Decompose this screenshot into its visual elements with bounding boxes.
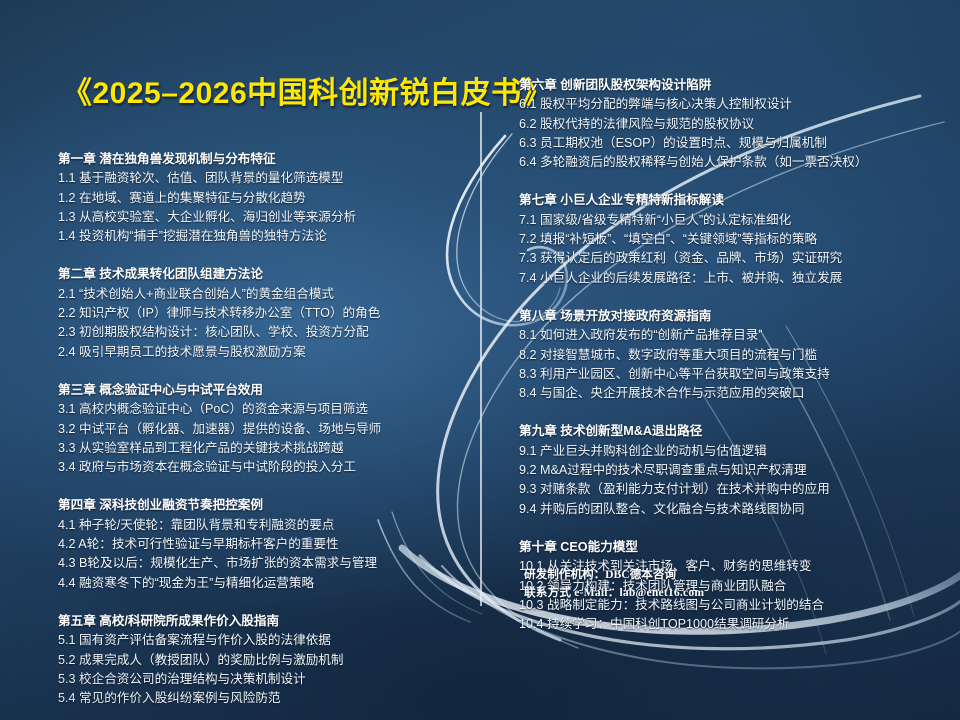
page-title: 《2025–2026中国科创新锐白皮书》 [62,68,552,112]
chapter-item: 7.1 国家级/省级专精特新“小巨人”的认定标准细化 [519,211,867,230]
chapter-item: 3.2 中试平台（孵化器、加速器）提供的设备、场地与导师 [58,420,381,439]
chapter-item: 9.4 并购后的团队整合、文化融合与技术路线图协同 [519,500,867,519]
chapter-item: 7.2 填报“补短板”、“填空白”、“关键领域”等指标的策略 [519,230,867,249]
chapter-item: 7.3 获得认定后的政策红利（资金、品牌、市场）实证研究 [519,249,867,268]
chapter-title: 第五章 高校/科研院所成果作价入股指南 [58,612,381,631]
chapter-block: 第五章 高校/科研院所成果作价入股指南 5.1 国有资产评估备案流程与作价入股的… [58,612,381,708]
chapter-block: 第八章 场景开放对接政府资源指南 8.1 如何进入政府发布的“创新产品推荐目录”… [519,307,867,403]
chapter-block: 第四章 深科技创业融资节奏把控案例 4.1 种子轮/天使轮：靠团队背景和专利融资… [58,496,381,592]
chapter-item: 9.3 对赌条款（盈利能力支付计划）在技术并购中的应用 [519,480,867,499]
chapter-item: 8.1 如何进入政府发布的“创新产品推荐目录” [519,326,867,345]
chapter-item: 8.3 利用产业园区、创新中心等平台获取空间与政策支持 [519,365,867,384]
chapter-item: 5.3 校企合资公司的治理结构与决策机制设计 [58,670,381,689]
chapter-title: 第六章 创新团队股权架构设计陷阱 [519,76,867,95]
chapter-block: 第二章 技术成果转化团队组建方法论 2.1 “技术创始人+商业联合创始人”的黄金… [58,265,381,361]
chapter-item: 7.4 小巨人企业的后续发展路径：上市、被并购、独立发展 [519,269,867,288]
chapter-item: 3.4 政府与市场资本在概念验证与中试阶段的投入分工 [58,458,381,477]
chapter-item: 4.2 A轮：技术可行性验证与早期标杆客户的重要性 [58,535,381,554]
chapter-item: 6.1 股权平均分配的弊端与核心决策人控制权设计 [519,95,867,114]
chapter-block: 第七章 小巨人企业专精特新指标解读 7.1 国家级/省级专精特新“小巨人”的认定… [519,191,867,287]
chapter-item: 1.3 从高校实验室、大企业孵化、海归创业等来源分析 [58,208,381,227]
chapter-item: 1.2 在地域、赛道上的集聚特征与分散化趋势 [58,189,381,208]
chapter-item: 4.3 B轮及以后：规模化生产、市场扩张的资本需求与管理 [58,554,381,573]
chapter-item: 4.1 种子轮/天使轮：靠团队背景和专利融资的要点 [58,516,381,535]
chapter-item: 5.4 常见的作价入股纠纷案例与风险防范 [58,689,381,708]
chapter-block: 第一章 潜在独角兽发现机制与分布特征 1.1 基于融资轮次、估值、团队背景的量化… [58,150,381,246]
chapter-item: 8.2 对接智慧城市、数字政府等重大项目的流程与门槛 [519,346,867,365]
chapter-item: 9.2 M&A过程中的技术尽职调查重点与知识产权清理 [519,461,867,480]
chapter-block: 第六章 创新团队股权架构设计陷阱 6.1 股权平均分配的弊端与核心决策人控制权设… [519,76,867,172]
chapter-title: 第二章 技术成果转化团队组建方法论 [58,265,381,284]
chapter-item: 2.4 吸引早期员工的技术愿景与股权激励方案 [58,343,381,362]
chapter-item: 1.1 基于融资轮次、估值、团队背景的量化筛选模型 [58,169,381,188]
slide-canvas: 《2025–2026中国科创新锐白皮书》 第一章 潜在独角兽发现机制与分布特征 … [0,0,960,720]
footer-contact-email: 联系方式 e-Mail：lab@enet16.com [524,584,704,602]
chapter-title: 第三章 概念验证中心与中试平台效用 [58,381,381,400]
chapter-title: 第一章 潜在独角兽发现机制与分布特征 [58,150,381,169]
chapter-item: 4.4 融资寒冬下的“现金为王”与精细化运营策略 [58,574,381,593]
chapter-block: 第三章 概念验证中心与中试平台效用 3.1 高校内概念验证中心（PoC）的资金来… [58,381,381,477]
chapter-item: 3.1 高校内概念验证中心（PoC）的资金来源与项目筛选 [58,400,381,419]
chapter-item: 6.4 多轮融资后的股权稀释与创始人保护条款（如一票否决权） [519,153,867,172]
chapter-title: 第十章 CEO能力模型 [519,538,867,557]
chapter-title: 第八章 场景开放对接政府资源指南 [519,307,867,326]
chapter-item: 1.4 投资机构“捕手”挖掘潜在独角兽的独特方法论 [58,227,381,246]
toc-left-column: 第一章 潜在独角兽发现机制与分布特征 1.1 基于融资轮次、估值、团队背景的量化… [58,150,381,720]
footer: 研发制作机构：DBC德本咨询 联系方式 e-Mail：lab@enet16.co… [524,566,704,602]
chapter-title: 第九章 技术创新型M&A退出路径 [519,422,867,441]
chapter-title: 第四章 深科技创业融资节奏把控案例 [58,496,381,515]
chapter-item: 3.3 从实验室样品到工程化产品的关键技术挑战跨越 [58,439,381,458]
chapter-item: 2.2 知识产权（IP）律师与技术转移办公室（TTO）的角色 [58,304,381,323]
chapter-item: 2.1 “技术创始人+商业联合创始人”的黄金组合模式 [58,285,381,304]
chapter-item: 10.4 持续学习：中国科创TOP1000结果调研分析 [519,615,867,634]
footer-organization: 研发制作机构：DBC德本咨询 [524,566,704,584]
chapter-item: 6.3 员工期权池（ESOP）的设置时点、规模与归属机制 [519,134,867,153]
chapter-item: 8.4 与国企、央企开展技术合作与示范应用的突破口 [519,384,867,403]
chapter-item: 6.2 股权代持的法律风险与规范的股权协议 [519,115,867,134]
chapter-block: 第九章 技术创新型M&A退出路径 9.1 产业巨头并购科创企业的动机与估值逻辑 … [519,422,867,518]
chapter-item: 5.2 成果完成人（教授团队）的奖励比例与激励机制 [58,651,381,670]
chapter-item: 2.3 初创期股权结构设计：核心团队、学校、投资方分配 [58,323,381,342]
chapter-item: 9.1 产业巨头并购科创企业的动机与估值逻辑 [519,442,867,461]
chapter-item: 5.1 国有资产评估备案流程与作价入股的法律依据 [58,631,381,650]
chapter-title: 第七章 小巨人企业专精特新指标解读 [519,191,867,210]
